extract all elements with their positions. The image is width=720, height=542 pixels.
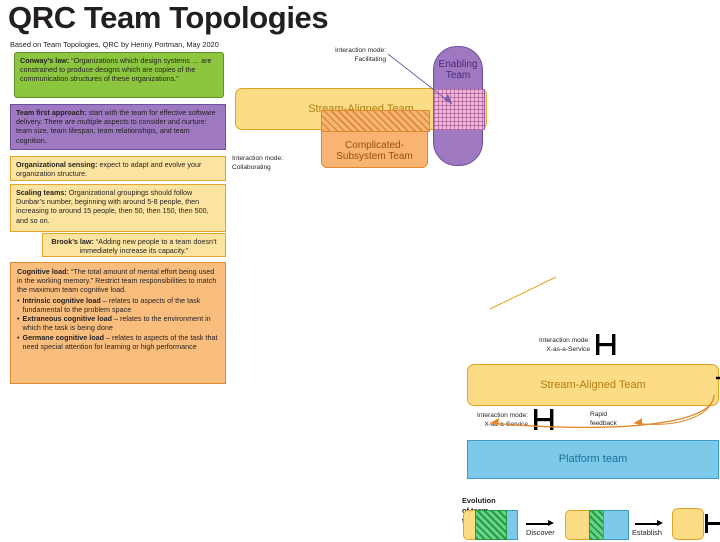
overlap-collaboration-band (321, 110, 430, 132)
cognitive-load-term: Cognitive load: (17, 267, 69, 276)
shape-label: Stream-Aligned Team (540, 378, 646, 393)
cognitive-load-bullet: • Intrinsic cognitive load – relates to … (17, 296, 219, 314)
bullet-term: Extraneous cognitive load (23, 314, 112, 323)
callout-cognitive-load: Cognitive load: “The total amount of men… (10, 262, 226, 384)
live-arrow (716, 370, 720, 386)
callout-scaling-teams: Scaling teams: Organizational groupings … (10, 184, 226, 232)
callout-organizational-sensing: Organizational sensing: expect to adapt … (10, 156, 226, 181)
feedback-arrows (464, 393, 720, 441)
annotation-line-2: X-as-a-Service (522, 346, 590, 355)
callout-term: Team first approach: (16, 108, 87, 117)
callout-term: Brook’s law: (51, 237, 93, 246)
callout-conways-law: Conway's law: “Organizations which desig… (14, 52, 224, 98)
evolution-arrow-2-head (657, 520, 663, 526)
evolution-arrow-2 (635, 523, 659, 525)
x-as-a-service-icon (704, 513, 720, 535)
evolution-step2-platform (603, 510, 629, 540)
annotation-line-2: Collaborating (232, 164, 322, 173)
bullet-marker: • (17, 333, 20, 351)
bullet-marker: • (17, 314, 20, 332)
annotation-line-1: Interaction mode: (300, 47, 386, 56)
evolution-step-label: Establish (632, 528, 662, 538)
qrc-poster: QRC Team Topologies Based on Team Topolo… (0, 0, 720, 405)
callout-term: Scaling teams: (16, 188, 67, 197)
callout-brooks-law: Brook’s law: “Adding new people to a tea… (42, 233, 226, 257)
cognitive-load-bullet: • Germane cognitive load – relates to as… (17, 333, 219, 351)
annotation-facilitating: Interaction mode: Facilitating (300, 47, 386, 64)
bullet-marker: • (17, 296, 20, 314)
page-title: QRC Team Topologies (8, 2, 328, 33)
leader-line-facilitating (386, 50, 462, 112)
evolution-arrow-1 (526, 523, 550, 525)
bullet-term: Intrinsic cognitive load (23, 296, 101, 305)
callout-text: “Adding new people to a team doesn’t imm… (80, 237, 217, 255)
leader-line-collaborating (488, 273, 560, 311)
bullet-term: Germane cognitive load (23, 333, 104, 342)
callout-team-first-approach: Team first approach: start with the team… (10, 104, 226, 150)
annotation-line-1: Interaction mode: (232, 155, 322, 164)
shape-label: Platform team (559, 452, 627, 467)
evolution-step3-stream-aligned (672, 508, 704, 540)
evolution-arrow-1-head (548, 520, 554, 526)
callout-term: Conway's law: (20, 56, 69, 65)
evolution-step1-overlap (475, 510, 507, 540)
annotation-xaas-upper: Interaction mode: X-as-a-Service (522, 337, 590, 354)
annotation-collaborating: Interaction mode: Collaborating Interact… (232, 155, 322, 172)
annotation-line-1: Interaction mode: (522, 337, 590, 346)
page-subtitle: Based on Team Topologies, QRC by Henny P… (10, 40, 219, 49)
cognitive-load-bullet: • Extraneous cognitive load – relates to… (17, 314, 219, 332)
evolution-step-label: Discover (526, 528, 555, 538)
shape-platform-team: Platform team (467, 440, 719, 479)
callout-term: Organizational sensing: (16, 160, 97, 169)
annotation-line-2: Facilitating (300, 56, 386, 65)
x-as-a-service-icon (594, 333, 618, 357)
shape-label: Complicated- Subsystem Team (336, 140, 413, 162)
